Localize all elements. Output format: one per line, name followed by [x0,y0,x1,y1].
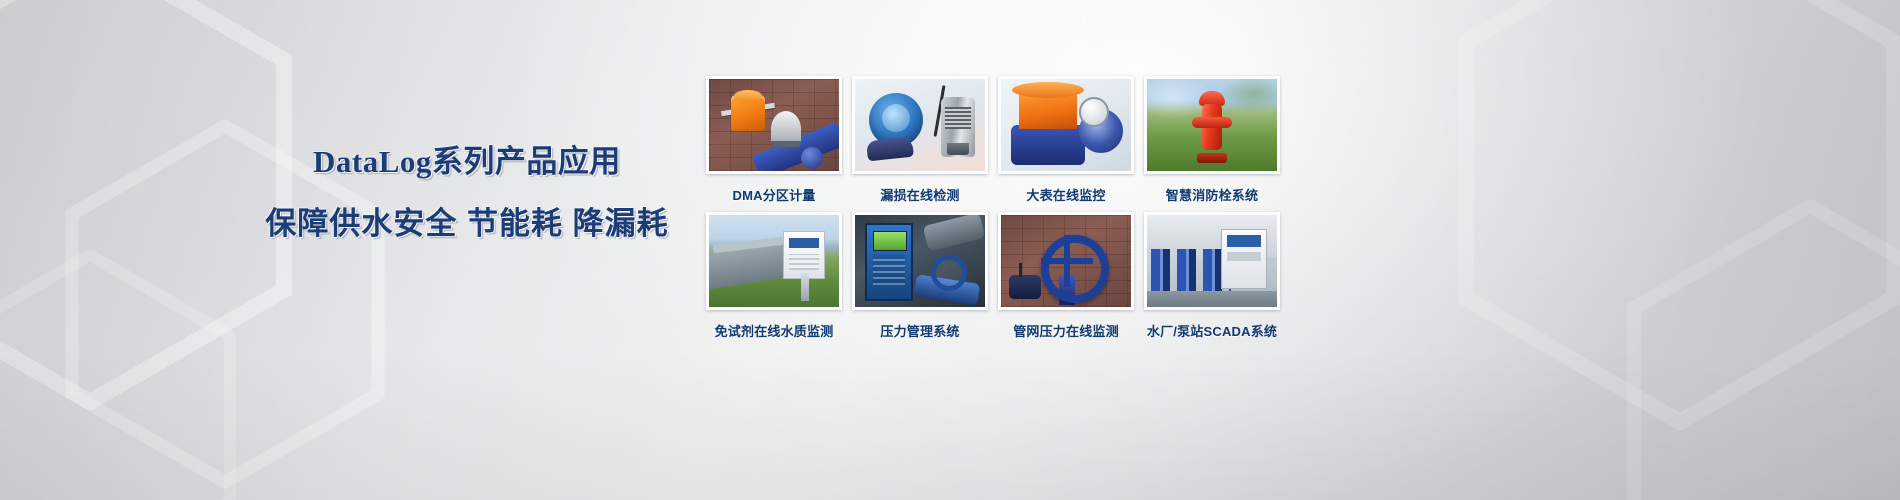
product-thumbnail[interactable] [1144,76,1280,174]
product-caption: 大表在线监控 [1026,185,1105,204]
pressure-management-icon [855,215,985,307]
product-grid-row: 免试剂在线水质监测 压力管理系统 [706,212,1280,340]
headline-line-2: 保障供水安全 节能耗 降漏耗 [252,202,682,246]
product-grid: DMA分区计量 漏损在线检测 大表在线监控 [706,76,1280,340]
product-thumbnail[interactable] [1144,212,1280,310]
pipe-pressure-icon [1001,215,1131,307]
hexagon-watermark-icon [1450,0,1900,430]
product-cell-scada-system[interactable]: 水厂/泵站SCADA系统 [1144,212,1280,340]
product-thumbnail[interactable] [852,212,988,310]
product-application-banner: DataLog系列产品应用 保障供水安全 节能耗 降漏耗 DMA分区计量 [0,0,1900,500]
product-cell-pressure-management[interactable]: 压力管理系统 [852,212,988,340]
product-grid-row: DMA分区计量 漏损在线检测 大表在线监控 [706,76,1280,204]
product-cell-water-quality[interactable]: 免试剂在线水质监测 [706,212,842,340]
product-caption: 压力管理系统 [880,321,959,340]
product-caption: 智慧消防栓系统 [1166,185,1258,204]
hexagon-watermark-icon [1620,200,1900,500]
product-caption: DMA分区计量 [732,185,815,204]
product-caption: 管网压力在线监测 [1013,321,1119,340]
product-caption: 水厂/泵站SCADA系统 [1147,321,1277,340]
product-cell-large-meter[interactable]: 大表在线监控 [998,76,1134,204]
product-thumbnail[interactable] [706,212,842,310]
product-caption: 免试剂在线水质监测 [715,321,834,340]
product-cell-smart-hydrant[interactable]: 智慧消防栓系统 [1144,76,1280,204]
product-thumbnail[interactable] [998,76,1134,174]
product-thumbnail[interactable] [706,76,842,174]
water-quality-icon [709,215,839,307]
dma-metering-icon [709,79,839,171]
leak-detection-icon [855,79,985,171]
bottom-shade-overlay [0,350,1900,500]
product-caption: 漏损在线检测 [880,185,959,204]
product-thumbnail[interactable] [852,76,988,174]
scada-system-icon [1147,215,1277,307]
large-meter-icon [1001,79,1131,171]
product-thumbnail[interactable] [998,212,1134,310]
smart-hydrant-icon [1147,79,1277,171]
headline-block: DataLog系列产品应用 保障供水安全 节能耗 降漏耗 [252,140,682,246]
hexagon-watermark-icon [0,250,240,500]
headline-line-1: DataLog系列产品应用 [252,140,682,184]
product-cell-pipe-pressure[interactable]: 管网压力在线监测 [998,212,1134,340]
product-cell-dma-metering[interactable]: DMA分区计量 [706,76,842,204]
product-cell-leak-detection[interactable]: 漏损在线检测 [852,76,988,204]
